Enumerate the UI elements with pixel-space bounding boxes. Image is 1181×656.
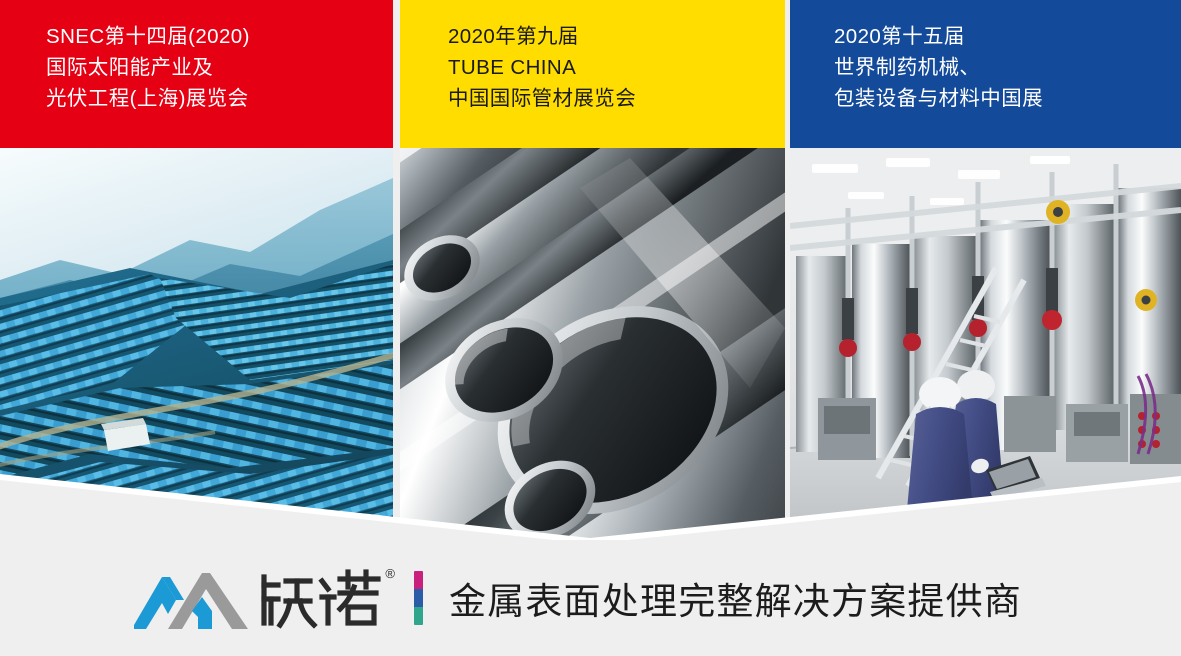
exhibition-title-line: 2020年第九届 [448, 22, 777, 53]
exhibition-title-line: 国际太阳能产业及 [46, 53, 385, 84]
pharmaceutical-plant-photo [790, 148, 1181, 545]
divider-segment-teal [414, 607, 423, 625]
exhibition-title-line: 2020第十五届 [834, 22, 1173, 53]
exhibition-panel-tube-china: 2020年第九届 TUBE CHINA 中国国际管材展览会 [400, 0, 785, 545]
exhibition-title-line: 包装设备与材料中国展 [834, 84, 1173, 115]
exhibition-title-line: SNEC第十四届(2020) [46, 22, 385, 53]
exhibition-band-tube-china: 2020年第九届 TUBE CHINA 中国国际管材展览会 [400, 0, 785, 148]
solar-panel-farm-photo [0, 148, 393, 545]
divider-segment-blue [414, 589, 423, 607]
exhibition-title-pharma-china: 2020第十五届 世界制药机械、 包装设备与材料中国展 [834, 22, 1173, 114]
exhibition-title-tube-china: 2020年第九届 TUBE CHINA 中国国际管材展览会 [448, 22, 777, 114]
mainuo-wordmark: ® [256, 567, 384, 629]
mainuo-logo-icon [132, 567, 250, 629]
exhibition-title-line: 世界制药机械、 [834, 53, 1173, 84]
exhibition-panel-snec-solar: SNEC第十四届(2020) 国际太阳能产业及 光伏工程(上海)展览会 [0, 0, 393, 545]
exhibition-band-pharma-china: 2020第十五届 世界制药机械、 包装设备与材料中国展 [790, 0, 1181, 148]
exhibition-band-snec-solar: SNEC第十四届(2020) 国际太阳能产业及 光伏工程(上海)展览会 [0, 0, 393, 148]
trademark-symbol: ® [385, 566, 395, 581]
exhibition-title-line: 光伏工程(上海)展览会 [46, 84, 385, 115]
brand-bar: ® 金属表面处理完整解决方案提供商 [0, 540, 1181, 656]
exhibition-panels: SNEC第十四届(2020) 国际太阳能产业及 光伏工程(上海)展览会 [0, 0, 1181, 545]
exhibition-title-snec-solar: SNEC第十四届(2020) 国际太阳能产业及 光伏工程(上海)展览会 [46, 22, 385, 114]
divider-segment-magenta [414, 571, 423, 589]
promo-banner: SNEC第十四届(2020) 国际太阳能产业及 光伏工程(上海)展览会 [0, 0, 1181, 656]
exhibition-title-line: TUBE CHINA [448, 53, 777, 84]
exhibition-title-line: 中国国际管材展览会 [448, 84, 777, 115]
brand-tagline: 金属表面处理完整解决方案提供商 [449, 571, 1022, 625]
steel-tubes-photo [400, 148, 785, 545]
exhibition-panel-pharma-china: 2020第十五届 世界制药机械、 包装设备与材料中国展 [790, 0, 1181, 545]
color-divider [414, 571, 423, 625]
